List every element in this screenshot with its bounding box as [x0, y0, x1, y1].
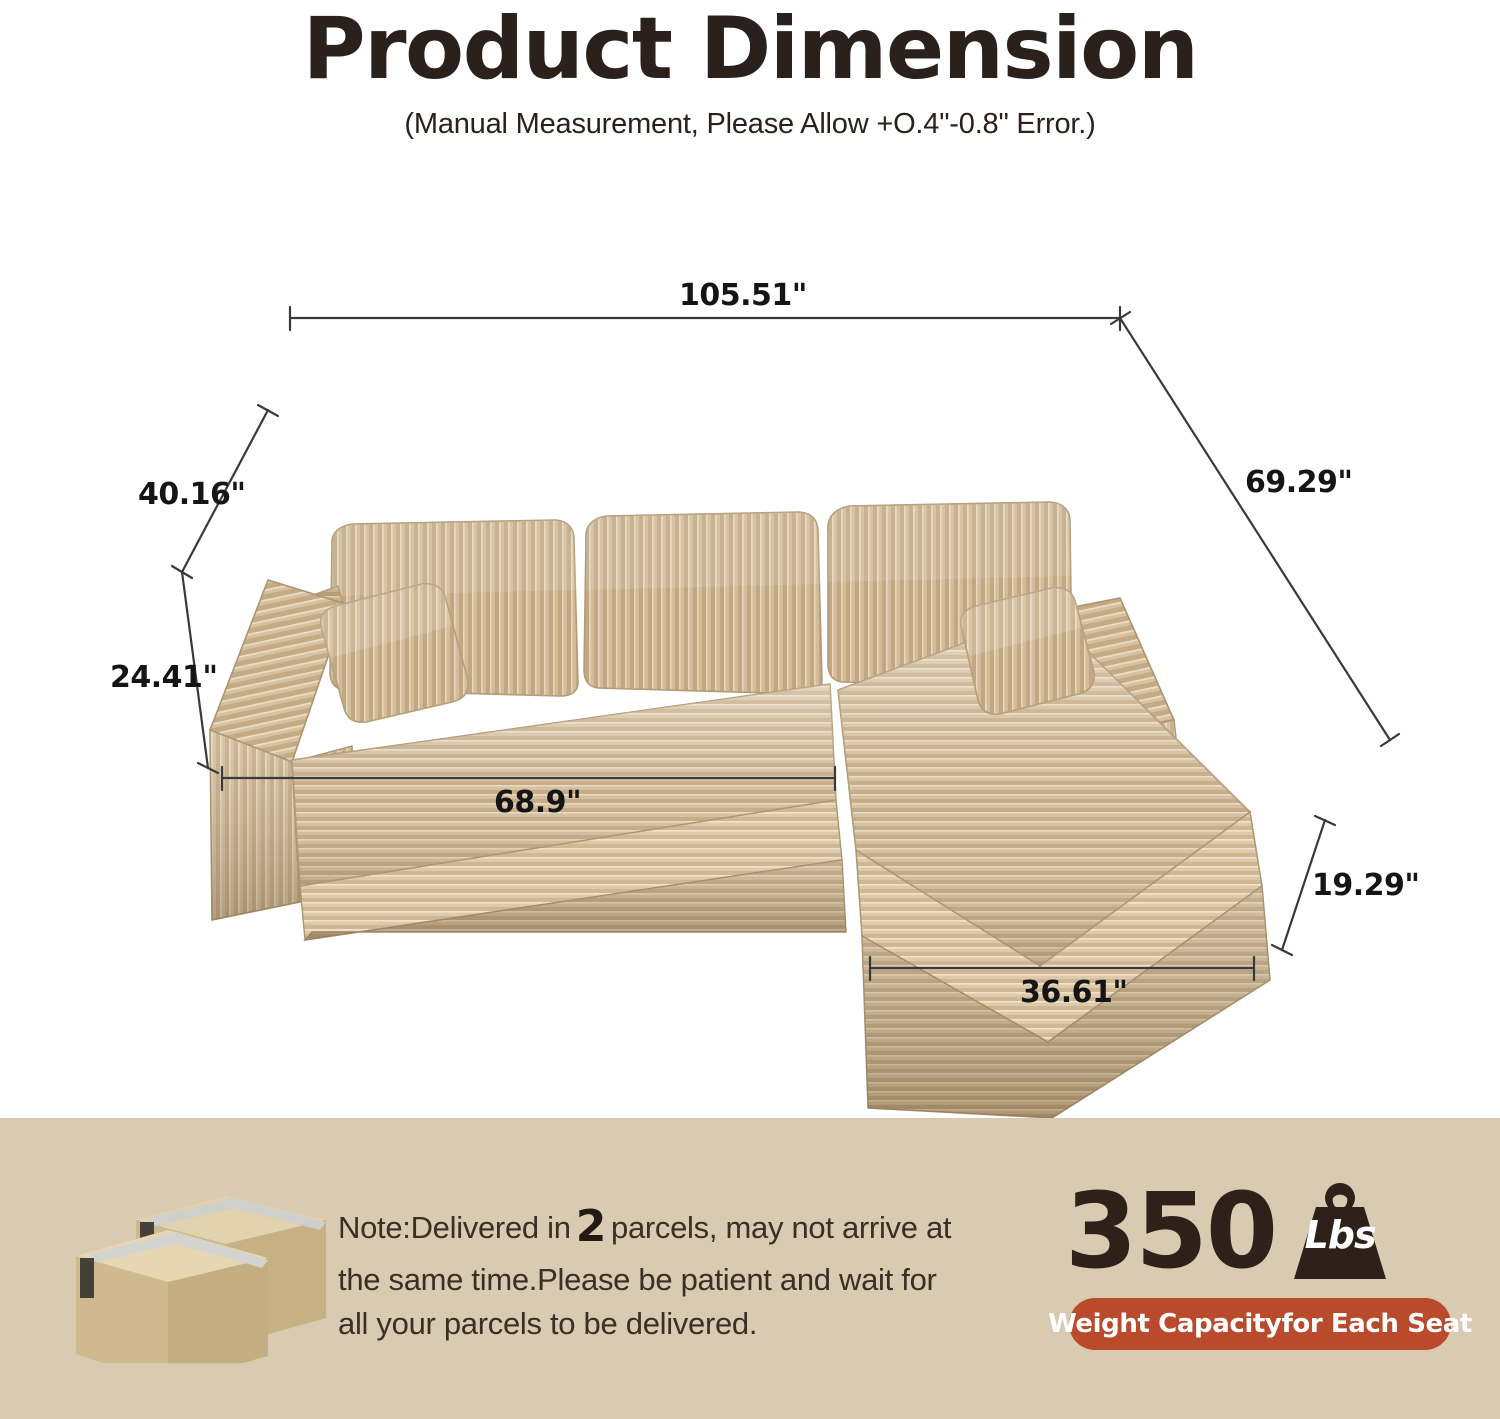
dimension-label-seat-height: 24.41" [110, 660, 218, 695]
dimension-label-overall-depth: 69.29" [1245, 465, 1353, 500]
capacity-unit: Lbs [1284, 1213, 1396, 1257]
dimension-label-overall-height: 40.16" [138, 477, 246, 512]
info-band: Note:Delivered in2parcels, may not arriv… [0, 1118, 1500, 1419]
dimension-label-chaise-width: 36.61" [1020, 975, 1128, 1010]
capacity-caption-pill: Weight Capacityfor Each Seat [1069, 1298, 1451, 1350]
sofa-body [210, 502, 1270, 1118]
capacity-caption: Weight Capacityfor Each Seat [1048, 1309, 1472, 1339]
capacity-value: 350 [1065, 1179, 1276, 1283]
note-parcel-count: 2 [571, 1201, 611, 1252]
delivery-note: Note:Delivered in2parcels, may not arriv… [338, 1196, 958, 1347]
weight-icon: Lbs [1284, 1179, 1396, 1283]
product-dimension-infographic: Product Dimension (Manual Measurement, P… [0, 0, 1500, 1419]
two-parcel-boxes-icon [58, 1178, 328, 1363]
dimension-label-chaise-height: 19.29" [1312, 868, 1420, 903]
sofa-diagram: 105.51" 69.29" 40.16" 24.41" 68.9" 19.29… [0, 160, 1500, 1118]
header: Product Dimension (Manual Measurement, P… [0, 0, 1500, 141]
right-throw-pillow [961, 588, 1095, 714]
page-title: Product Dimension [0, 0, 1500, 94]
left-throw-pillow [321, 584, 469, 722]
note-prefix: Note:Delivered in [338, 1210, 571, 1245]
dimension-label-sofa-width: 68.9" [494, 785, 581, 820]
dimension-label-overall-width: 105.51" [679, 278, 807, 313]
dimline-overall-depth [1120, 318, 1390, 740]
weight-capacity-block: 350 Lbs Weight Capacityfor Each Seat [1065, 1170, 1455, 1370]
page-subtitle: (Manual Measurement, Please Allow +O.4"-… [0, 94, 1500, 141]
